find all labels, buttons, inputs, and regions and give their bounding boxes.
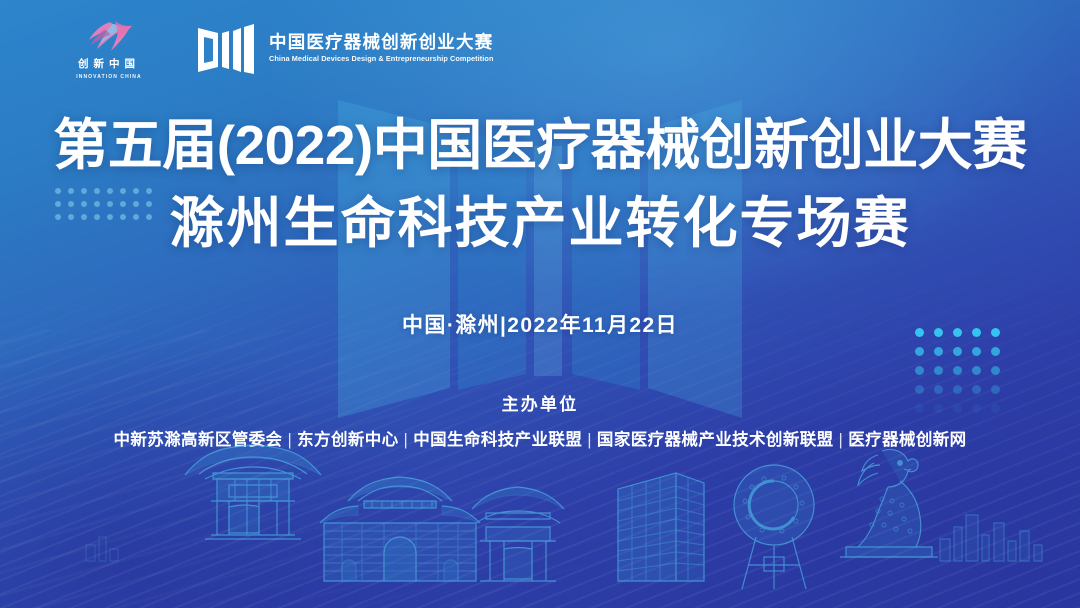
organizer-name: 中新苏滁高新区管委会 xyxy=(113,431,282,449)
poster-main: 第五届(2022)中国医疗器械创新创业大赛 滁州生命科技产业转化专场赛 中国·滁… xyxy=(0,0,1080,608)
poster-title-line-1: 第五届(2022)中国医疗器械创新创业大赛 xyxy=(0,116,1080,175)
organizer-separator: | xyxy=(582,431,597,449)
organizer-name: 医疗器械创新网 xyxy=(848,431,966,449)
organizer-separator: | xyxy=(834,431,849,449)
organizer-name: 国家医疗器械产业技术创新联盟 xyxy=(597,431,834,449)
event-poster: 创新中国 INNOVATION CHINA 中国医疗器械创新创业大赛 China… xyxy=(0,0,1080,608)
organizer-separator: | xyxy=(399,431,414,449)
poster-title-line-2: 滁州生命科技产业转化专场赛 xyxy=(0,194,1080,253)
organizer-list: 中新苏滁高新区管委会|东方创新中心|中国生命科技产业联盟|国家医疗器械产业技术创… xyxy=(0,426,1080,450)
organizer-separator: | xyxy=(282,431,297,449)
poster-subtitle-location-date: 中国·滁州|2022年11月22日 xyxy=(0,309,1080,339)
organizer-name: 东方创新中心 xyxy=(297,431,398,449)
organizer-name: 中国生命科技产业联盟 xyxy=(413,431,582,449)
organizer-label: 主办单位 xyxy=(0,390,1080,415)
